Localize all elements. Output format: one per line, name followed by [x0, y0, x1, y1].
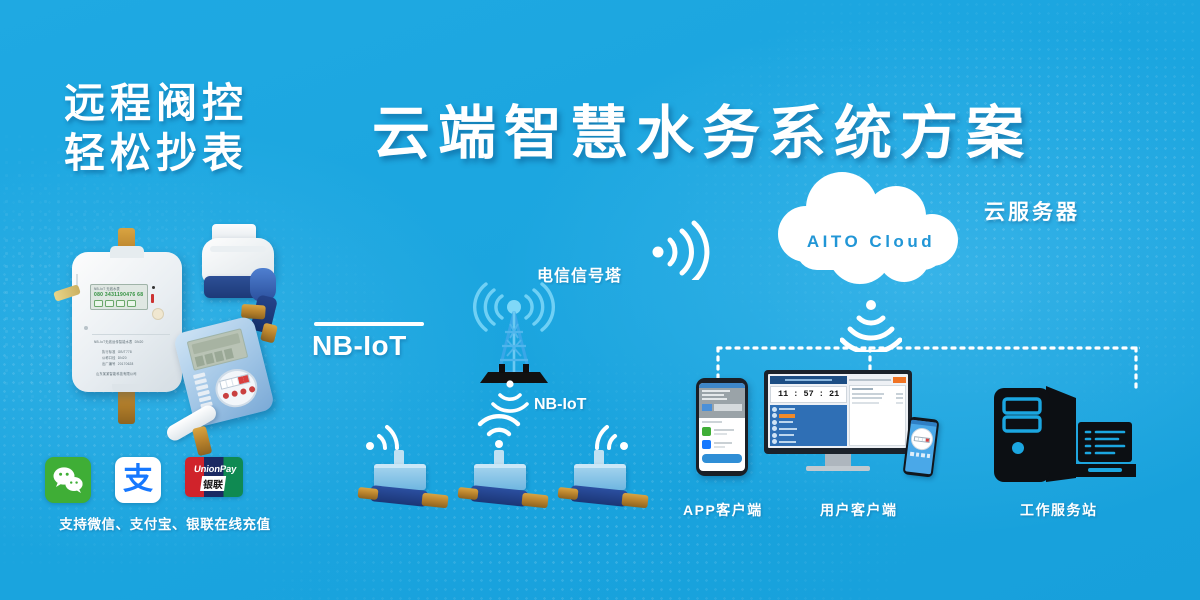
uplink-signal-icon — [646, 218, 718, 280]
payment-caption: 支持微信、支付宝、银联在线充值 — [30, 513, 300, 533]
unionpay-line2: 银联 — [200, 476, 226, 491]
nbiot-signal-icon — [488, 378, 532, 418]
left-heading: 远程阀控 轻松抄表 — [64, 78, 294, 178]
banner-canvas: 远程阀控 轻松抄表 云端智慧水务系统方案 NB-IoT 无线水表 080 343… — [0, 0, 1200, 600]
alipay-icon[interactable]: 支 — [115, 457, 161, 503]
device-label-app-client: APP客户端 — [683, 500, 763, 520]
left-heading-line2: 轻松抄表 — [64, 128, 294, 178]
payment-methods: 支 UnionPay 银联 — [45, 457, 243, 503]
monitor-base — [806, 466, 870, 471]
tower-label: 电信信号塔 — [537, 262, 622, 286]
unionpay-icon[interactable]: UnionPay 银联 — [185, 457, 243, 497]
product-photo-nbiot-meter: NB-IoT 无线水表 080 3431190476 68 NB-IoT无线远传… — [72, 228, 182, 424]
nbiot-label-large: NB-IoT — [312, 330, 407, 362]
monitor-clock: 11 : 57 : 21 — [778, 389, 839, 399]
cloud-name: AITO Cloud — [756, 232, 986, 252]
user-client-monitor[interactable]: 11 : 57 : 21 — [764, 370, 912, 471]
device-label-work-station: 工作服务站 — [1020, 500, 1098, 520]
monitor-stand — [825, 454, 851, 466]
cloud-server-label: 云服务器 — [984, 196, 1080, 226]
page-title: 云端智慧水务系统方案 — [372, 86, 1032, 170]
nbiot-label-small: NB-IoT — [534, 396, 586, 414]
unionpay-line1: UnionPay — [193, 464, 237, 475]
cloud-server-icon: AITO Cloud — [756, 170, 986, 292]
app-client-phone[interactable] — [696, 378, 748, 476]
smart-water-meter-1 — [368, 452, 456, 514]
smart-water-meter-2 — [468, 452, 556, 514]
monitor-screen: 11 : 57 : 21 — [768, 374, 908, 448]
left-heading-line1: 远程阀控 — [64, 78, 294, 128]
alipay-glyph: 支 — [123, 465, 153, 495]
nbiot-underline — [314, 322, 424, 326]
smart-water-meter-3 — [568, 452, 656, 514]
device-label-user-client: 用户客户端 — [820, 500, 898, 520]
work-station-icon[interactable] — [984, 382, 1136, 488]
wechat-icon[interactable] — [45, 457, 91, 503]
user-phone-screen — [905, 420, 937, 475]
app-phone-screen — [699, 383, 745, 471]
